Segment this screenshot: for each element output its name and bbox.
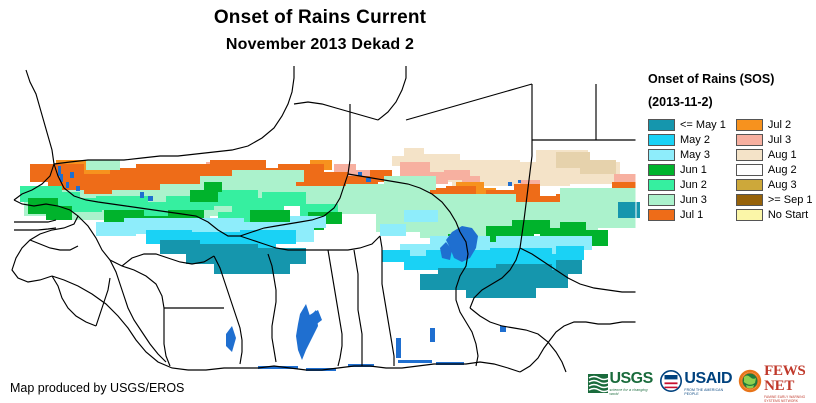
legend-date: (2013-11-2) bbox=[648, 95, 816, 109]
map-svg bbox=[0, 64, 640, 374]
legend-swatch bbox=[736, 164, 763, 176]
legend-swatch bbox=[736, 194, 763, 206]
legend-label: Jul 1 bbox=[680, 209, 703, 221]
legend-item[interactable]: Aug 3 bbox=[736, 178, 813, 191]
map-credit: Map produced by USGS/EROS bbox=[10, 381, 184, 395]
usgs-logo[interactable]: USGS science for a changing world bbox=[588, 371, 654, 396]
legend-label: May 3 bbox=[680, 149, 710, 161]
legend-column-right: Jul 2 Jul 3 Aug 1 Aug 2 Aug 3 bbox=[736, 118, 813, 221]
usaid-wordmark: USAID bbox=[684, 371, 732, 387]
legend-label: Aug 2 bbox=[768, 164, 797, 176]
legend-item[interactable]: Jun 1 bbox=[648, 163, 726, 176]
legend-title: Onset of Rains (SOS) bbox=[648, 72, 816, 86]
fewsnet-wordmark: FEWS NET bbox=[764, 364, 812, 394]
usaid-tagline: FROM THE AMERICAN PEOPLE bbox=[684, 388, 732, 396]
agency-logos: USGS science for a changing world USAID … bbox=[588, 367, 812, 399]
legend-item[interactable]: Jun 3 bbox=[648, 193, 726, 206]
legend-label: Aug 3 bbox=[768, 179, 797, 191]
fewsnet-globe-icon bbox=[738, 369, 762, 398]
legend-swatch bbox=[736, 209, 763, 221]
legend-item[interactable]: Jul 3 bbox=[736, 133, 813, 146]
legend-label: Jun 1 bbox=[680, 164, 707, 176]
usgs-tagline: science for a changing world bbox=[609, 388, 654, 396]
legend-item[interactable]: >= Sep 1 bbox=[736, 193, 813, 206]
legend-item[interactable]: Jun 2 bbox=[648, 178, 726, 191]
legend-item[interactable]: Aug 2 bbox=[736, 163, 813, 176]
usaid-seal-icon bbox=[660, 370, 682, 397]
usgs-wordmark: USGS bbox=[609, 371, 654, 387]
legend-label: Jul 3 bbox=[768, 134, 791, 146]
legend-item[interactable]: May 2 bbox=[648, 133, 726, 146]
fewsnet-tagline: FAMINE EARLY WARNING SYSTEMS NETWORK bbox=[764, 395, 812, 403]
legend-swatch bbox=[648, 209, 675, 221]
legend-swatch bbox=[648, 149, 675, 161]
legend-label: Aug 1 bbox=[768, 149, 797, 161]
legend-swatch bbox=[736, 149, 763, 161]
legend-item[interactable]: No Start bbox=[736, 208, 813, 221]
legend-item[interactable]: Aug 1 bbox=[736, 148, 813, 161]
legend-label: May 2 bbox=[680, 134, 710, 146]
legend-swatch bbox=[648, 164, 675, 176]
legend-item[interactable]: <= May 1 bbox=[648, 118, 726, 131]
legend-swatch bbox=[648, 179, 675, 191]
legend-item[interactable]: Jul 1 bbox=[648, 208, 726, 221]
page-title: Onset of Rains Current bbox=[0, 7, 640, 29]
legend-swatch bbox=[736, 119, 763, 131]
legend-item[interactable]: Jul 2 bbox=[736, 118, 813, 131]
legend-label: >= Sep 1 bbox=[768, 194, 813, 206]
legend-swatch bbox=[648, 119, 675, 131]
map-page: Onset of Rains Current November 2013 Dek… bbox=[0, 0, 816, 403]
legend-label: Jun 2 bbox=[680, 179, 707, 191]
legend-swatch bbox=[736, 134, 763, 146]
legend-panel: Onset of Rains (SOS) (2013-11-2) <= May … bbox=[648, 72, 816, 221]
usgs-wave-icon bbox=[588, 374, 608, 393]
fewsnet-logo[interactable]: FEWS NET FAMINE EARLY WARNING SYSTEMS NE… bbox=[738, 364, 812, 403]
legend-swatch bbox=[736, 179, 763, 191]
legend-swatch bbox=[648, 194, 675, 206]
legend-swatch bbox=[648, 134, 675, 146]
map-canvas[interactable] bbox=[0, 64, 640, 374]
usaid-logo[interactable]: USAID FROM THE AMERICAN PEOPLE bbox=[660, 370, 732, 397]
legend-label: No Start bbox=[768, 209, 808, 221]
legend-label: Jun 3 bbox=[680, 194, 707, 206]
legend-column-left: <= May 1 May 2 May 3 Jun 1 Jun 2 bbox=[648, 118, 726, 221]
legend-item[interactable]: May 3 bbox=[648, 148, 726, 161]
legend-label: Jul 2 bbox=[768, 119, 791, 131]
legend-label: <= May 1 bbox=[680, 119, 726, 131]
page-subtitle: November 2013 Dekad 2 bbox=[0, 36, 640, 54]
